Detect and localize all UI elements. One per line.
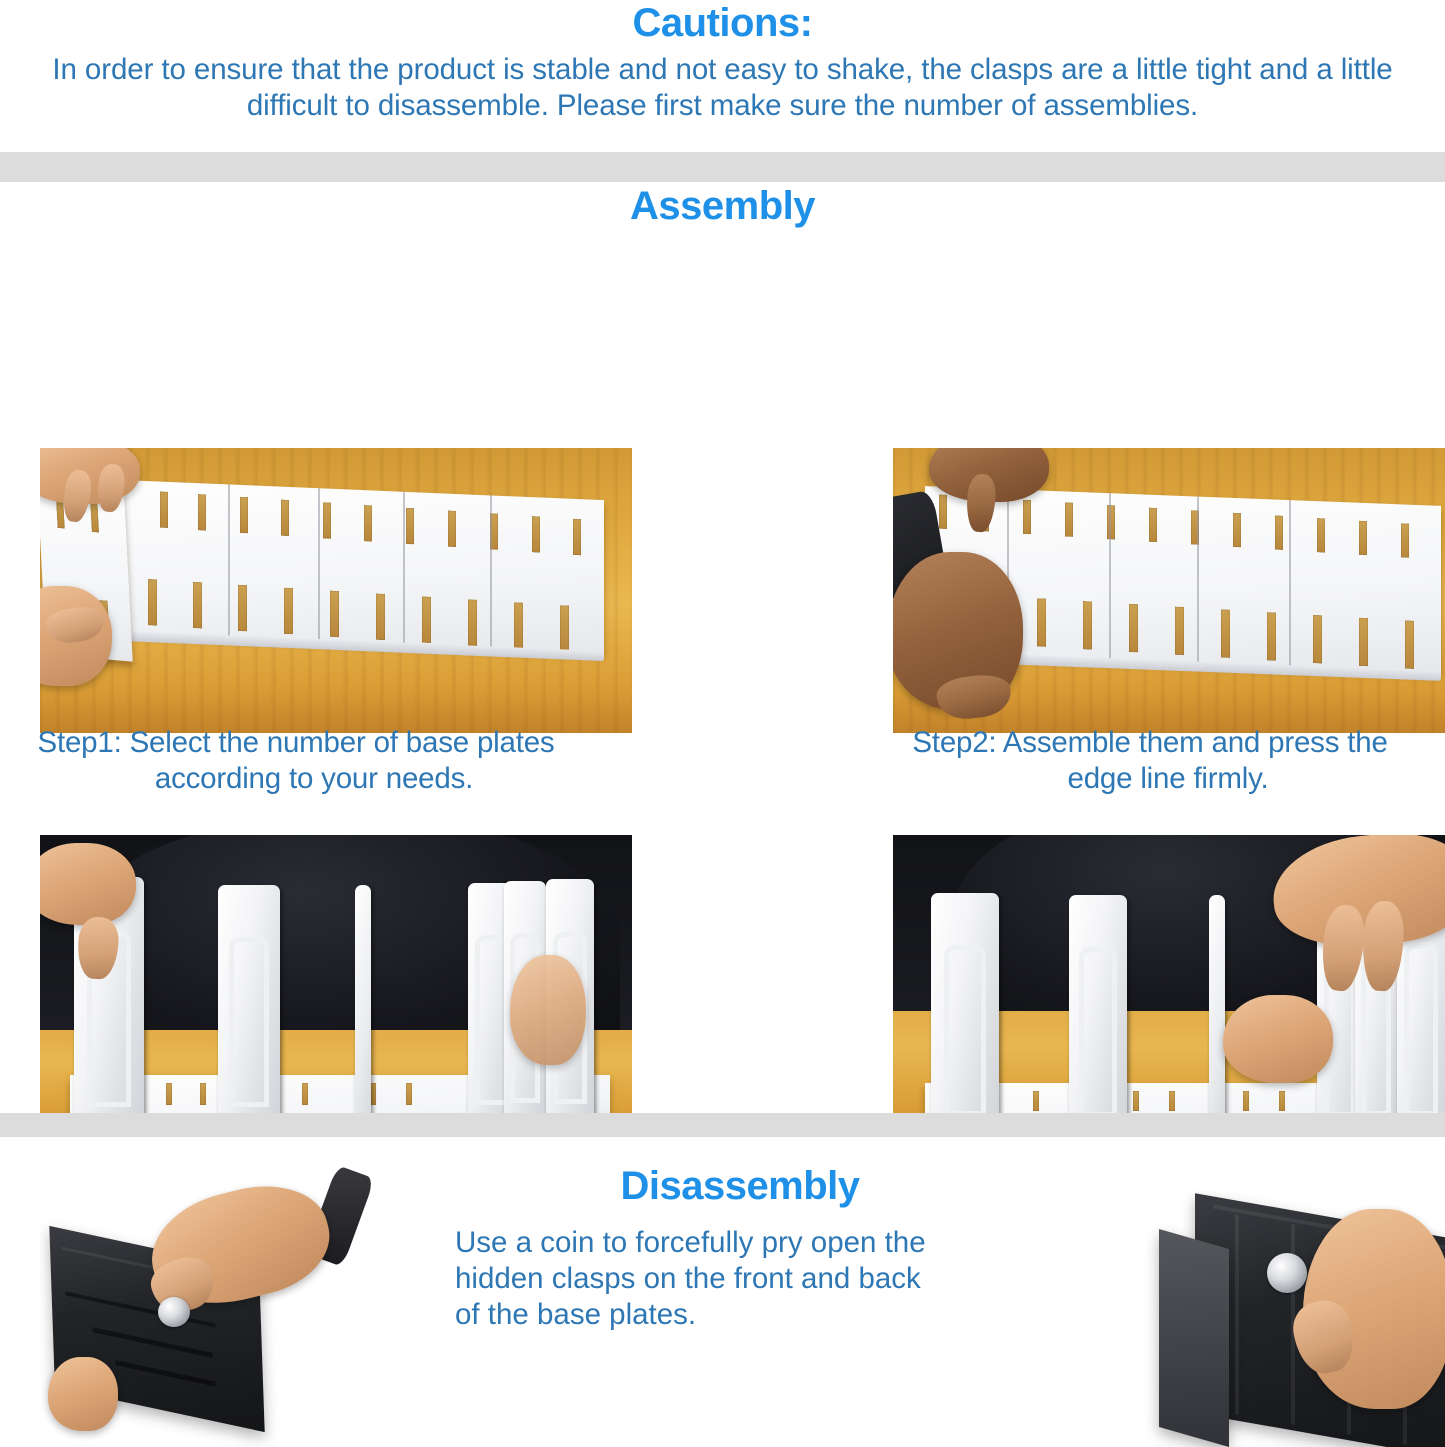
coin [1267,1253,1307,1293]
hand-lower [1223,995,1333,1083]
hand-left [40,843,136,925]
section-divider-bottom [0,1113,1445,1137]
cautions-title: Cautions: [0,0,1445,44]
cautions-section: Cautions: In order to ensure that the pr… [0,0,1445,152]
assembly-section: Assembly [0,182,1445,1113]
disassembly-title: Disassembly [430,1165,1050,1207]
step4-photo [893,835,1445,1160]
step1-caption-line-2: according to your needs. [6,761,586,797]
step1-photo [40,448,632,733]
cautions-body-text: In order to ensure that the product is s… [0,44,1445,124]
upright-board-3 [355,885,371,1143]
disassembly-line-1: Use a coin to forcefully pry open the [455,1225,1055,1261]
black-upright-board [1159,1229,1229,1447]
slot-group-bottom [118,480,604,652]
disassembly-line-3: of the base plates. [455,1297,1055,1333]
assembly-title: Assembly [0,182,1445,227]
disassembly-body-text: Use a coin to forcefully pry open the hi… [455,1225,1055,1333]
hand-supporting [48,1357,118,1431]
step2-caption-line-1: Step2: Assemble them and press the [860,725,1440,761]
step2-caption-line-2: edge line firmly. [860,761,1440,797]
hand-right [510,955,586,1065]
step2-photo [893,448,1445,733]
step3-photo [40,835,632,1160]
step2-caption: Step2: Assemble them and press the edge … [860,725,1440,797]
upright-board-2 [218,885,280,1143]
disassembly-line-2: hidden clasps on the front and back [455,1261,1055,1297]
disassembly-left-photo [40,1161,440,1447]
base-plate-main [118,480,604,652]
disassembly-right-photo [1145,1191,1445,1447]
step1-caption: Step1: Select the number of base plates … [6,725,586,797]
section-divider-top [0,152,1445,182]
coin [158,1297,190,1327]
step1-caption-line-1: Step1: Select the number of base plates [6,725,586,761]
